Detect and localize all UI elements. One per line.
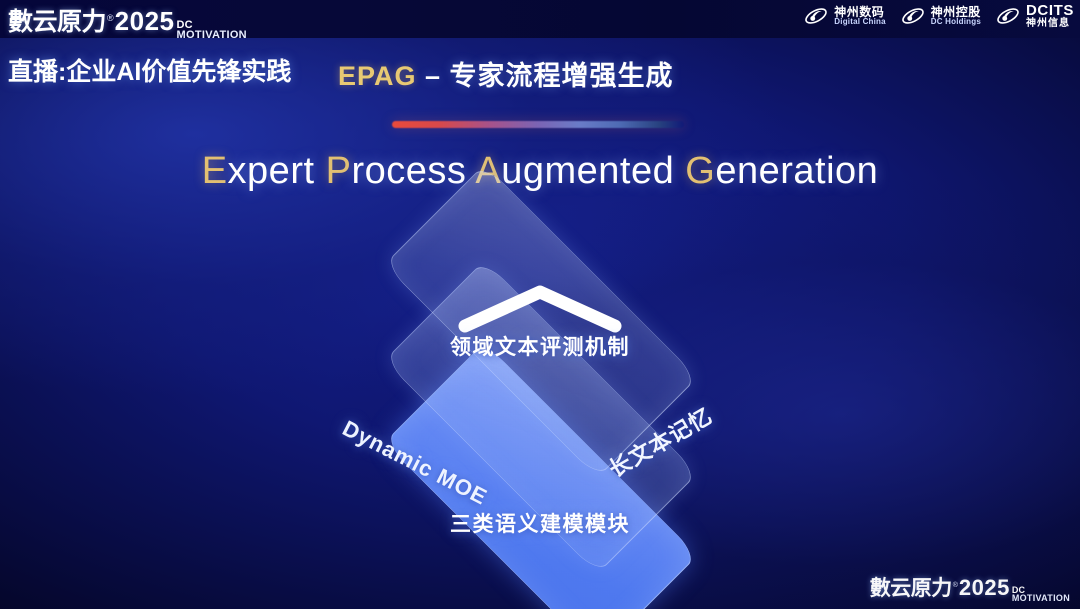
swirl-logo-icon [995, 3, 1021, 29]
stack-layer-top-label: 领域文本评测机制 [450, 331, 630, 361]
event-logo: 數云原力 ® 2025 DC MOTIVATION [8, 2, 247, 43]
partner-logo-bar: 神州数码 Digital China 神州控股 DC Holdings [803, 3, 1074, 29]
partner-name-cn: 神州信息 [1026, 19, 1074, 30]
event-logo-suffix: DC MOTIVATION [1012, 586, 1070, 603]
subtitle-word-rest: eneration [715, 150, 878, 192]
subtitle-word: Generation [685, 150, 878, 192]
partner-logo-text: 神州控股 DC Holdings [931, 6, 981, 27]
event-logo-suffix: DC MOTIVATION [177, 20, 247, 41]
partner-logo-dcits: DCITS 神州信息 [995, 3, 1074, 29]
subtitle-initial: G [685, 150, 715, 192]
page-title-rest: 专家流程增强生成 [450, 61, 674, 91]
subtitle-word-rest: xpert [228, 150, 315, 192]
slide-canvas: 數云原力 ® 2025 DC MOTIVATION 神州数码 Digital C… [0, 0, 1080, 609]
event-logo-year: 2025 [959, 575, 1010, 601]
subtitle-word: Expert [202, 150, 315, 192]
chevron-up-icon [455, 280, 625, 336]
partner-logo-dc-holdings: 神州控股 DC Holdings [900, 3, 981, 29]
swirl-logo-icon [900, 3, 926, 29]
subtitle-word: Process [326, 150, 467, 192]
subtitle: Expert Process Augmented Generation [0, 150, 1080, 193]
event-logo-motivation: MOTIVATION [177, 30, 247, 41]
partner-name-en: DCITS [1026, 3, 1074, 19]
event-logo-watermark: 數云原力 ® 2025 DC MOTIVATION [870, 572, 1070, 605]
event-logo-motivation: MOTIVATION [1012, 594, 1070, 603]
partner-name-en: DC Holdings [931, 18, 981, 26]
stack-layer-bottom-label: 三类语义建模模块 [450, 508, 630, 538]
partner-logo-text: 神州数码 Digital China [834, 6, 886, 27]
event-logo-cn: 數云原力 [8, 2, 106, 38]
swirl-logo-icon [803, 3, 829, 29]
partner-logo-digital-china: 神州数码 Digital China [803, 3, 886, 29]
partner-logo-text: DCITS 神州信息 [1026, 3, 1074, 29]
live-session-label: 直播:企业AI价值先锋实践 [8, 52, 291, 88]
subtitle-word-rest: rocess [351, 150, 466, 192]
page-title: EPAG – 专家流程增强生成 [338, 54, 674, 93]
registered-mark: ® [107, 13, 114, 23]
partner-name-en: Digital China [834, 18, 886, 26]
page-title-separator: – [417, 61, 450, 91]
subtitle-initial: E [202, 150, 228, 192]
layer-stack-diagram: 领域文本评测机制 Dynamic MOE 长文本记忆 三类语义建模模块 [278, 218, 802, 578]
page-title-accent: EPAG [338, 61, 417, 91]
gradient-divider [392, 121, 684, 128]
subtitle-word-rest: ugmented [501, 150, 674, 192]
subtitle-initial: P [326, 150, 352, 192]
event-logo-year: 2025 [115, 6, 175, 37]
registered-mark: ® [953, 582, 958, 589]
event-logo-cn: 數云原力 [870, 572, 952, 602]
